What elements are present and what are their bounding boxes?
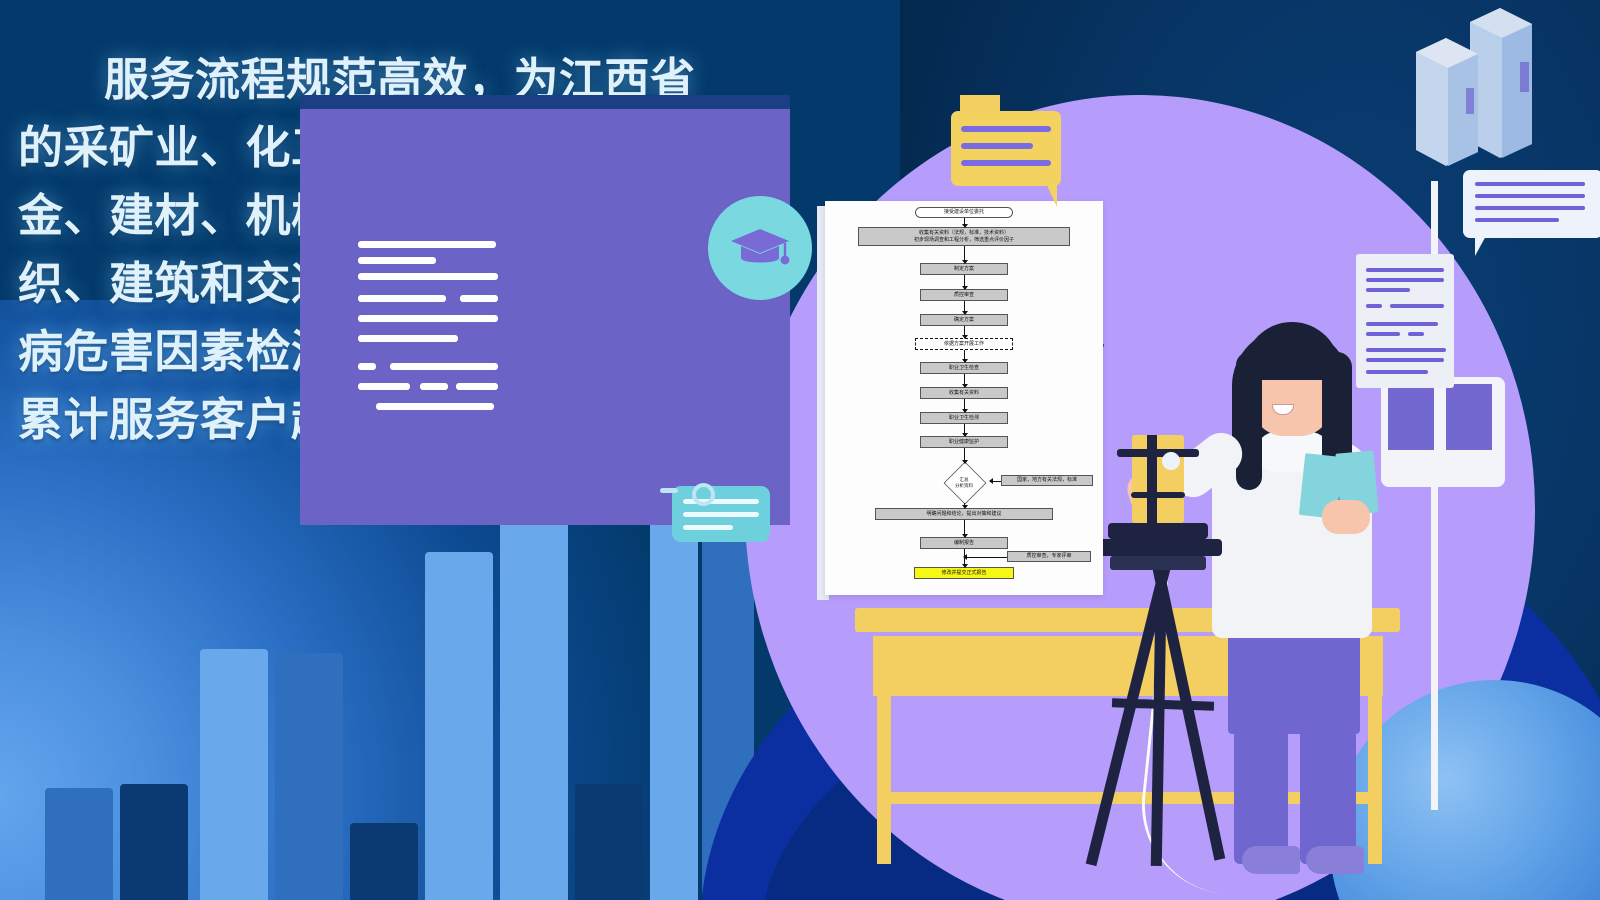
flowchart-node-label: 编制报告: [954, 540, 974, 547]
teacher-shoe-left: [1242, 846, 1300, 874]
teacher-brow-right: [1296, 358, 1309, 361]
flowchart-node-label: 职业健康监护: [949, 439, 979, 446]
open-book-icon: [1381, 377, 1505, 487]
flowchart-arrow: [964, 503, 965, 508]
flowchart-arrow: [964, 326, 965, 338]
flowchart-side-input: 质控审查，专家评审: [1007, 551, 1091, 562]
graduation-cap-badge: [708, 196, 812, 300]
flowchart-arrow: [964, 275, 965, 289]
microscope-base-2: [1094, 539, 1222, 556]
flowchart-arrow: [964, 350, 965, 362]
teacher-eye-right: [1298, 368, 1306, 379]
flowchart-node-label: 确定方案: [954, 317, 974, 324]
microscope-arm-lower: [1131, 492, 1185, 498]
flowchart-arrow: [964, 218, 965, 227]
stacked-books-icon: [1382, 2, 1600, 177]
teacher-leg-left: [1234, 722, 1288, 864]
poster-canvas: 服务流程规范高效，为江西省 的采矿业、化工、石化及医药、冶 金、建材、机械制造、…: [0, 0, 1600, 900]
wall-note-paper: [1356, 254, 1454, 388]
flowchart-node: 制定方案: [920, 263, 1008, 275]
flowchart-node-label: 依据方案开展工作: [944, 341, 984, 348]
flowchart-arrow-horizontal: [964, 557, 1007, 558]
microscope-lens-icon: [1162, 452, 1180, 470]
flowchart-side-input: 国家，地方有关法规，标准: [1001, 475, 1093, 486]
chart-bar: [425, 552, 493, 900]
teacher-hair-left: [1236, 352, 1262, 490]
teacher-brow-left: [1268, 358, 1281, 361]
flowchart-node-label: 制定方案: [954, 266, 974, 273]
chart-bar: [575, 784, 643, 900]
microscope-base-1: [1108, 523, 1208, 539]
flowchart-node-label: 汇总分析资料: [937, 463, 991, 503]
flowchart-node: 确定方案: [920, 314, 1008, 326]
teacher-hand-holding-book: [1322, 500, 1370, 534]
ring-icon: [692, 483, 715, 506]
flowchart-arrow: [964, 424, 965, 436]
flipchart-board: 接受建设单位委托收集有关资料（法规，标准，技术资料）初步现场调查和工程分析，筛选…: [825, 201, 1103, 595]
flowchart: 接受建设单位委托收集有关资料（法规，标准，技术资料）初步现场调查和工程分析，筛选…: [825, 201, 1103, 595]
chalkboard: [300, 95, 790, 525]
flowchart-node-label: 收集有关资料: [949, 390, 979, 397]
microscope-base-3: [1110, 556, 1206, 570]
flowchart-node: 接受建设单位委托: [915, 207, 1013, 218]
flowchart-node-label: 质控审查: [954, 292, 974, 299]
chart-bar: [200, 649, 268, 900]
teacher-shoe-right: [1306, 846, 1364, 874]
chart-bar: [120, 784, 188, 900]
flowchart-node: 编制报告: [920, 537, 1008, 549]
note-card-teal: [672, 486, 770, 542]
flowchart-arrow-horizontal: [990, 481, 1001, 482]
flowchart-node-label: 国家，地方有关法规，标准: [1017, 477, 1077, 484]
flowchart-node: 明确问题和结论，提出对策和建议: [875, 508, 1053, 520]
book-stand-pole-bottom: [1431, 470, 1438, 810]
speech-bubble-tail: [1045, 181, 1057, 207]
flowchart-arrow: [964, 374, 965, 387]
flowchart-arrow: [964, 520, 965, 537]
flowchart-node-label: 质控审查，专家评审: [1026, 553, 1071, 560]
flowchart-node-label: 明确问题和结论，提出对策和建议: [926, 511, 1001, 518]
flowchart-node: 职业卫生检测: [920, 412, 1008, 424]
flowchart-node-label: 收集有关资料（法规，标准，技术资料）初步现场调查和工程分析，筛选重点评价因子: [914, 230, 1014, 244]
chalkboard-top-frame: [300, 95, 790, 109]
flowchart-node-decision: 汇总分析资料: [937, 463, 991, 503]
flowchart-node-label: 职业卫生检查: [949, 365, 979, 372]
flowchart-node: 职业卫生检查: [920, 362, 1008, 374]
microscope-arm-upper: [1117, 449, 1199, 457]
graduation-cap-icon: [729, 225, 791, 271]
chart-bar: [275, 653, 343, 900]
flowchart-arrow: [964, 399, 965, 412]
flowchart-node: 收集有关资料: [920, 387, 1008, 399]
speech-bubble-yellow: [951, 111, 1061, 186]
desk-leg-right: [1368, 696, 1382, 864]
flowchart-arrow: [964, 246, 965, 263]
flowchart-node: 质控审查: [920, 289, 1008, 301]
chart-bar: [350, 823, 418, 900]
flowchart-arrow: [964, 448, 965, 463]
dash-decor: [660, 488, 678, 493]
flowchart-node: 职业健康监护: [920, 436, 1008, 448]
flowchart-node-label: 修改并提交正式报告: [941, 570, 986, 577]
flowchart-node-label: 职业卫生检测: [949, 415, 979, 422]
flowchart-arrow: [964, 301, 965, 314]
teacher-leg-right: [1300, 722, 1356, 864]
flowchart-node: 修改并提交正式报告: [914, 567, 1014, 579]
desk-leg-left: [877, 696, 891, 864]
speech-bubble-white: [1463, 170, 1600, 238]
flowchart-node: 收集有关资料（法规，标准，技术资料）初步现场调查和工程分析，筛选重点评价因子: [858, 227, 1070, 246]
flowchart-node-label: 接受建设单位委托: [944, 209, 984, 216]
flowchart-node: 依据方案开展工作: [915, 338, 1013, 350]
teacher-eye-left: [1270, 368, 1278, 379]
chart-bar: [45, 788, 113, 900]
speech-bubble-white-tail: [1475, 234, 1487, 256]
